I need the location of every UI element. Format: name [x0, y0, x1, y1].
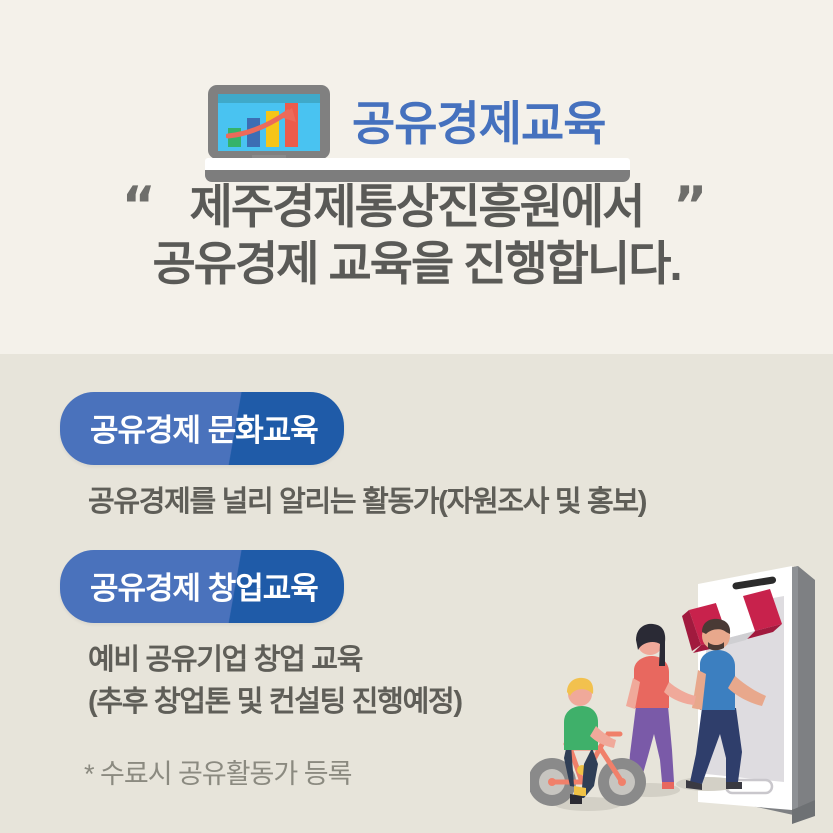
headline-line-2: 공유경제 교육을 진행합니다.	[0, 235, 833, 292]
screen-topbar	[218, 94, 320, 103]
headline: “ 제주경제통상진흥원에서 ” 공유경제 교육을 진행합니다.	[0, 178, 833, 292]
laptop-body	[208, 85, 330, 159]
quote-close-mark: ”	[673, 186, 705, 226]
headline-line-1: “ 제주경제통상진흥원에서 ”	[0, 178, 833, 235]
startup-education-line-2: (추후 창업톤 및 컨설팅 진행예정)	[88, 681, 462, 723]
startup-education-line-1: 예비 공유기업 창업 교육	[88, 639, 462, 681]
headline-text-1: 제주경제통상진흥원에서	[190, 180, 644, 233]
badge-startup-education[interactable]: 공유경제 창업교육	[60, 550, 344, 623]
section-culture-education: 공유경제 문화교육 공유경제를 널리 알리는 활동가(자원조사 및 홍보)	[60, 392, 646, 523]
laptop-chart-icon	[208, 85, 330, 167]
quote-open-mark: “	[122, 186, 154, 226]
poster-canvas: 공유경제교육 “ 제주경제통상진흥원에서 ” 공유경제 교육을 진행합니다. 공…	[0, 0, 833, 833]
badge-culture-education[interactable]: 공유경제 문화교육	[60, 392, 344, 465]
laptop-screen	[218, 94, 320, 151]
footnote: * 수료시 공유활동가 등록	[84, 752, 351, 791]
sharing-economy-people-smartphone-illustration	[530, 558, 833, 833]
header: 공유경제교육	[0, 40, 833, 150]
header-title: 공유경제교육	[352, 95, 672, 153]
section-startup-education: 공유경제 창업교육 예비 공유기업 창업 교육 (추후 창업톤 및 컨설팅 진행…	[60, 550, 462, 723]
culture-education-line-1: 공유경제를 널리 알리는 활동가(자원조사 및 홍보)	[88, 481, 646, 523]
trend-arrow-icon	[226, 106, 312, 142]
